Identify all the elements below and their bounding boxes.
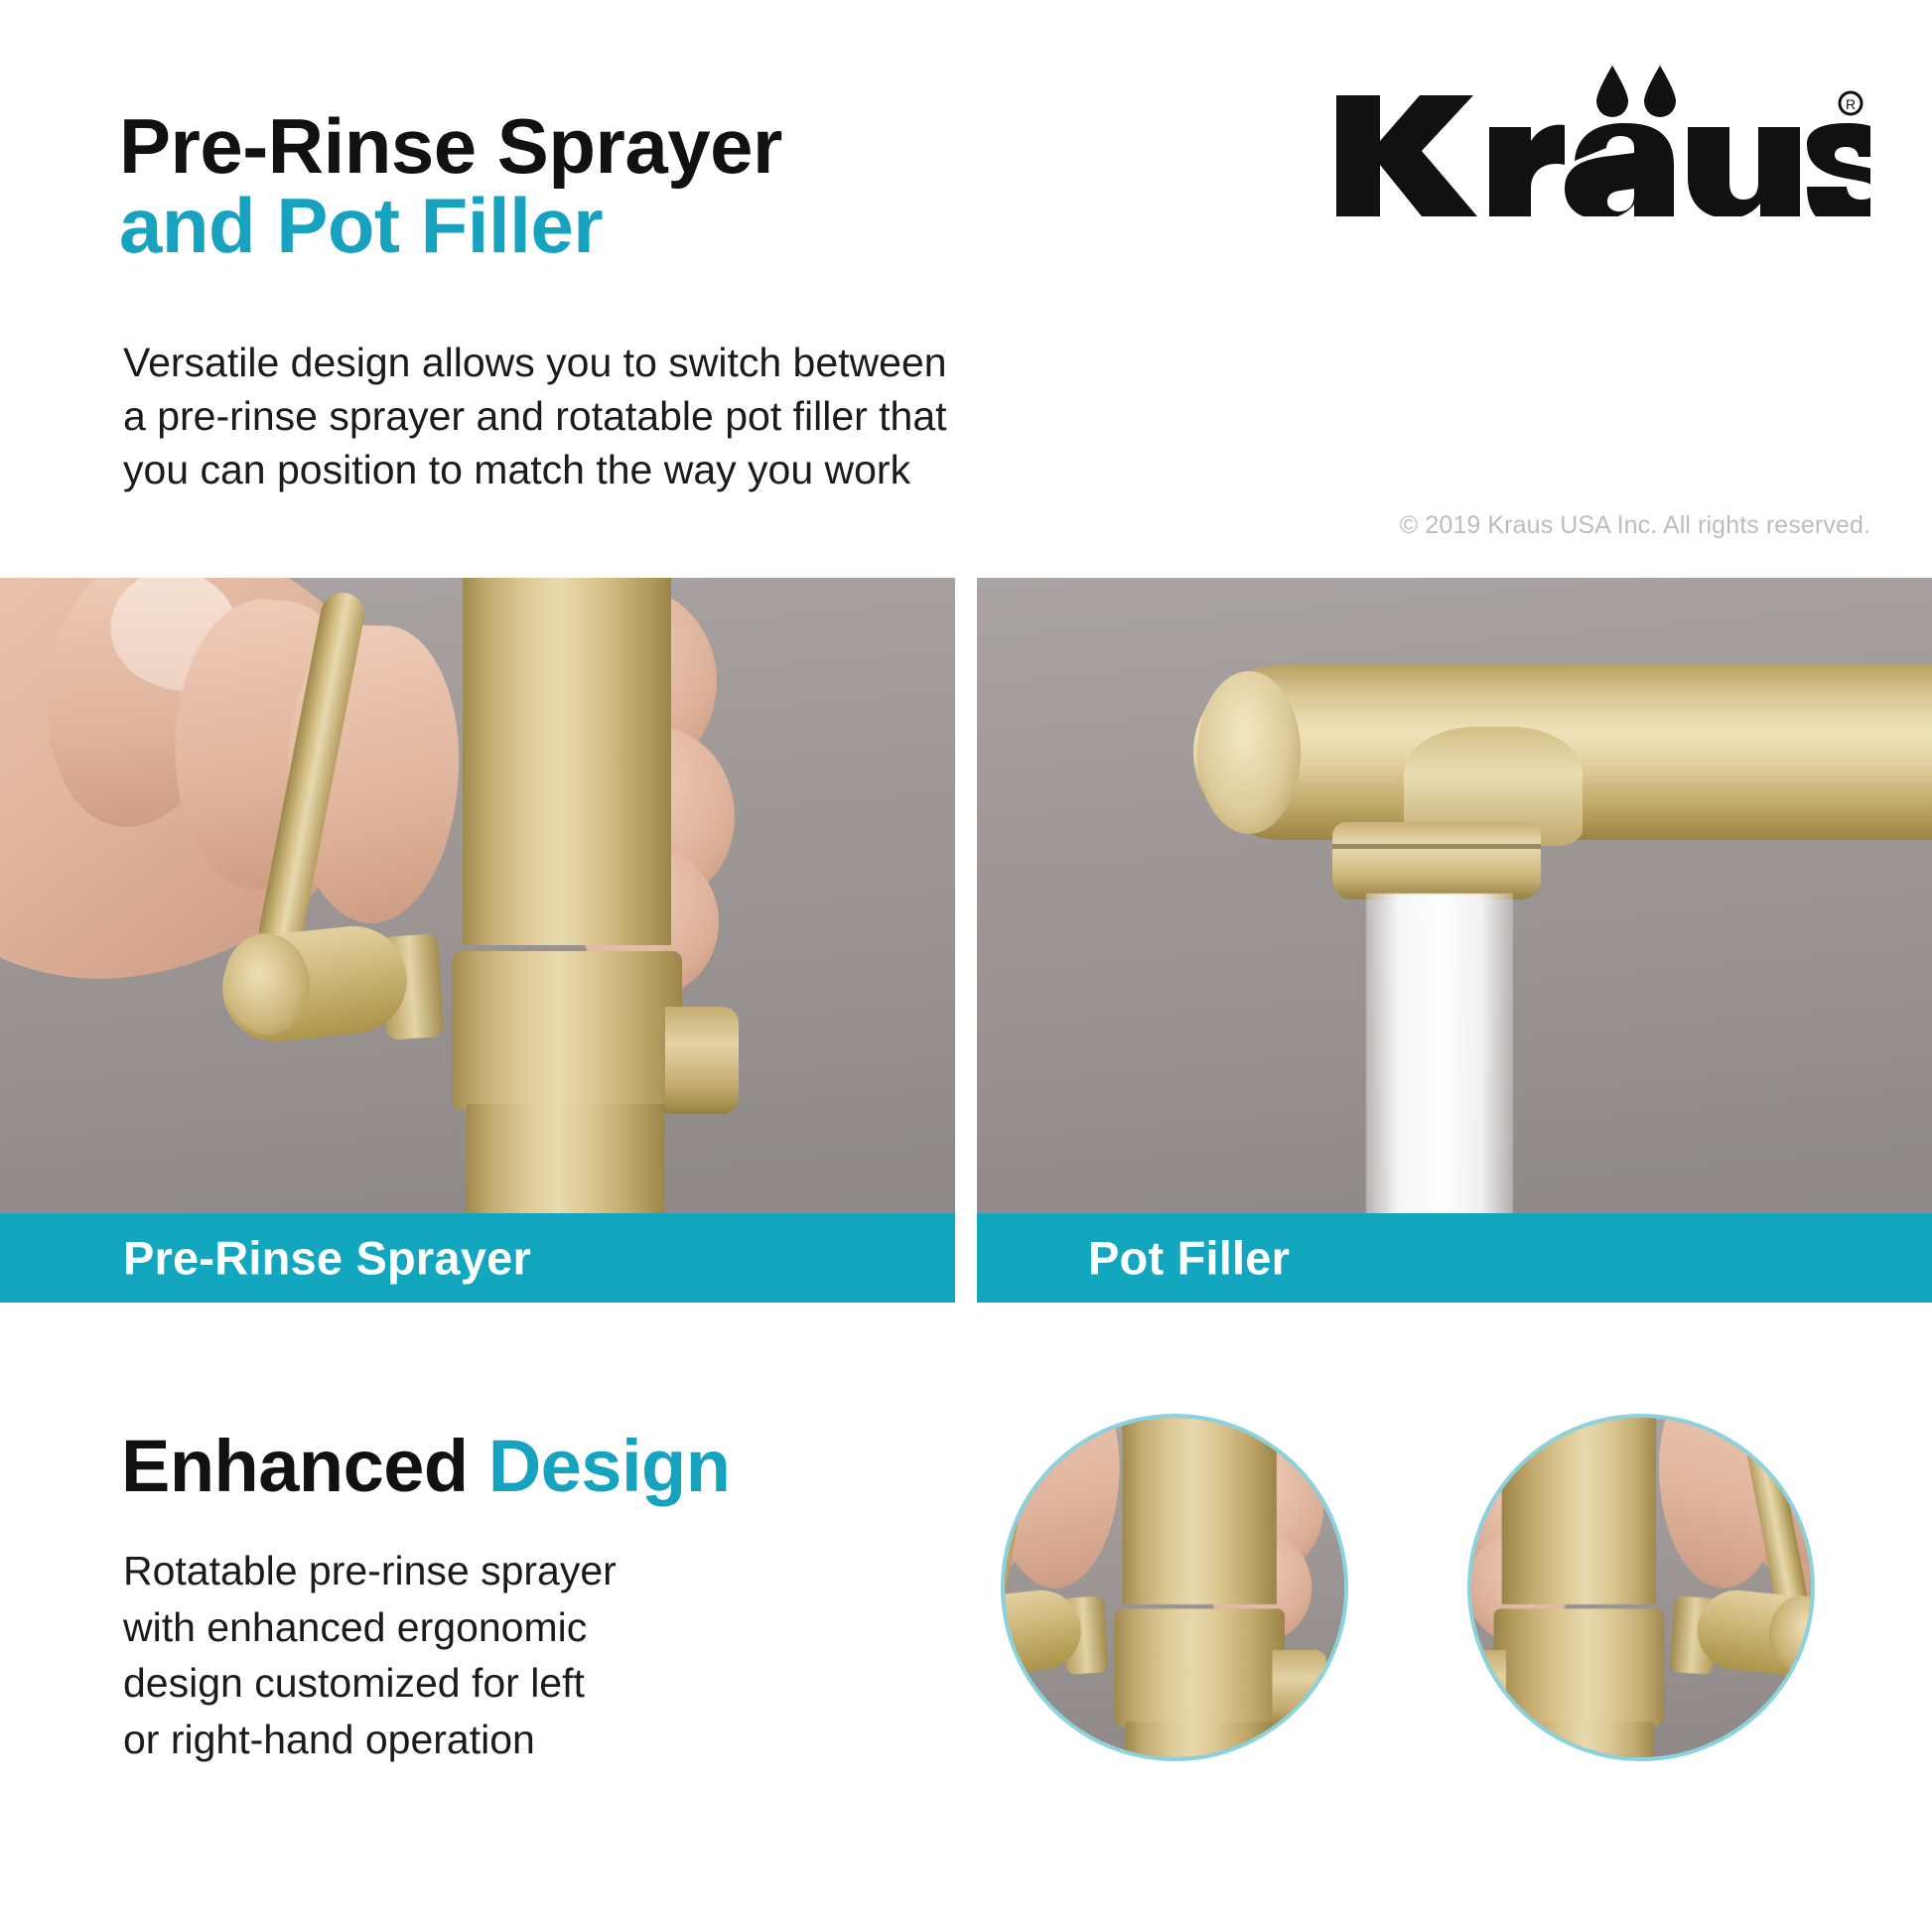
enhanced-design-section: Enhanced Design Rotatable pre-rinse spra… xyxy=(0,1303,1932,1932)
faucet-spout-upper xyxy=(1502,1414,1656,1604)
pot-filler-joint-seam xyxy=(1332,844,1541,849)
faucet-side-nub xyxy=(1467,1650,1506,1729)
kraus-logo: R xyxy=(1314,58,1870,216)
panel-pre-rinse-sprayer: Pre-Rinse Sprayer xyxy=(0,578,955,1303)
body-line: or right-hand operation xyxy=(123,1712,798,1768)
title-line-primary: Pre-Rinse Sprayer xyxy=(119,107,782,187)
callout-scene-right xyxy=(1467,1414,1815,1761)
photo-pre-rinse-sprayer xyxy=(0,578,955,1213)
pot-filler-outlet-joint xyxy=(1332,822,1541,899)
faucet-side-nub xyxy=(665,1007,739,1114)
title-line-secondary: and Pot Filler xyxy=(119,187,782,266)
callout-photo-right xyxy=(1467,1414,1815,1761)
finger xyxy=(1810,1414,1815,1528)
faucet-spray-head xyxy=(1506,1722,1653,1761)
caption-label: Pot Filler xyxy=(1088,1231,1290,1286)
header-subtitle: Versatile design allows you to switch be… xyxy=(123,336,1116,496)
subtitle-line: you can position to match the way you wo… xyxy=(123,443,1116,496)
pot-filler-end-cap xyxy=(1197,671,1301,834)
heading-word-dark: Enhanced xyxy=(121,1425,469,1507)
callout-left-hand-operation xyxy=(1001,1414,1348,1761)
subtitle-line: a pre-rinse sprayer and rotatable pot fi… xyxy=(123,389,1116,443)
callout-right-hand-operation xyxy=(1467,1414,1815,1761)
faucet-spray-head xyxy=(1125,1722,1272,1761)
faucet-spout-collar xyxy=(1494,1608,1665,1725)
water-spray-overflow xyxy=(1595,1751,1687,1876)
page-title: Pre-Rinse Sprayer and Pot Filler xyxy=(119,107,782,265)
caption-bar-pre-rinse-sprayer: Pre-Rinse Sprayer xyxy=(0,1213,955,1303)
faucet-spout-upper xyxy=(463,578,671,945)
faucet-spout-upper xyxy=(1122,1414,1276,1604)
caption-label: Pre-Rinse Sprayer xyxy=(123,1231,531,1286)
body-line: with enhanced ergonomic xyxy=(123,1599,798,1656)
faucet-side-nub xyxy=(1272,1650,1326,1729)
water-spray-overflow xyxy=(1129,1751,1220,1876)
enhanced-design-body: Rotatable pre-rinse sprayer with enhance… xyxy=(123,1543,798,1767)
callout-scene-left xyxy=(1001,1414,1348,1761)
enhanced-design-heading: Enhanced Design xyxy=(121,1424,730,1508)
faucet-spout-collar xyxy=(1114,1608,1285,1725)
faucet-spray-head xyxy=(467,1104,665,1213)
callout-photo-left xyxy=(1001,1414,1348,1761)
photo-pot-filler xyxy=(977,578,1932,1213)
kraus-wordmark-icon: R xyxy=(1314,58,1870,216)
caption-bar-pot-filler: Pot Filler xyxy=(977,1213,1932,1303)
svg-text:R: R xyxy=(1846,96,1856,112)
heading-word-teal: Design xyxy=(488,1425,731,1507)
subtitle-line: Versatile design allows you to switch be… xyxy=(123,336,1116,389)
comparison-panels: Pre-Rinse Sprayer Pot Filler xyxy=(0,578,1932,1303)
copyright-notice: © 2019 Kraus USA Inc. All rights reserve… xyxy=(1400,511,1870,540)
body-line: design customized for left xyxy=(123,1655,798,1712)
body-line: Rotatable pre-rinse sprayer xyxy=(123,1543,798,1599)
faucet-spout-collar xyxy=(452,951,682,1110)
infographic-page: Pre-Rinse Sprayer and Pot Filler Versati… xyxy=(0,0,1932,1932)
header-section: Pre-Rinse Sprayer and Pot Filler Versati… xyxy=(0,0,1932,578)
water-solid-stream xyxy=(1366,894,1513,1213)
panel-pot-filler: Pot Filler xyxy=(977,578,1932,1303)
